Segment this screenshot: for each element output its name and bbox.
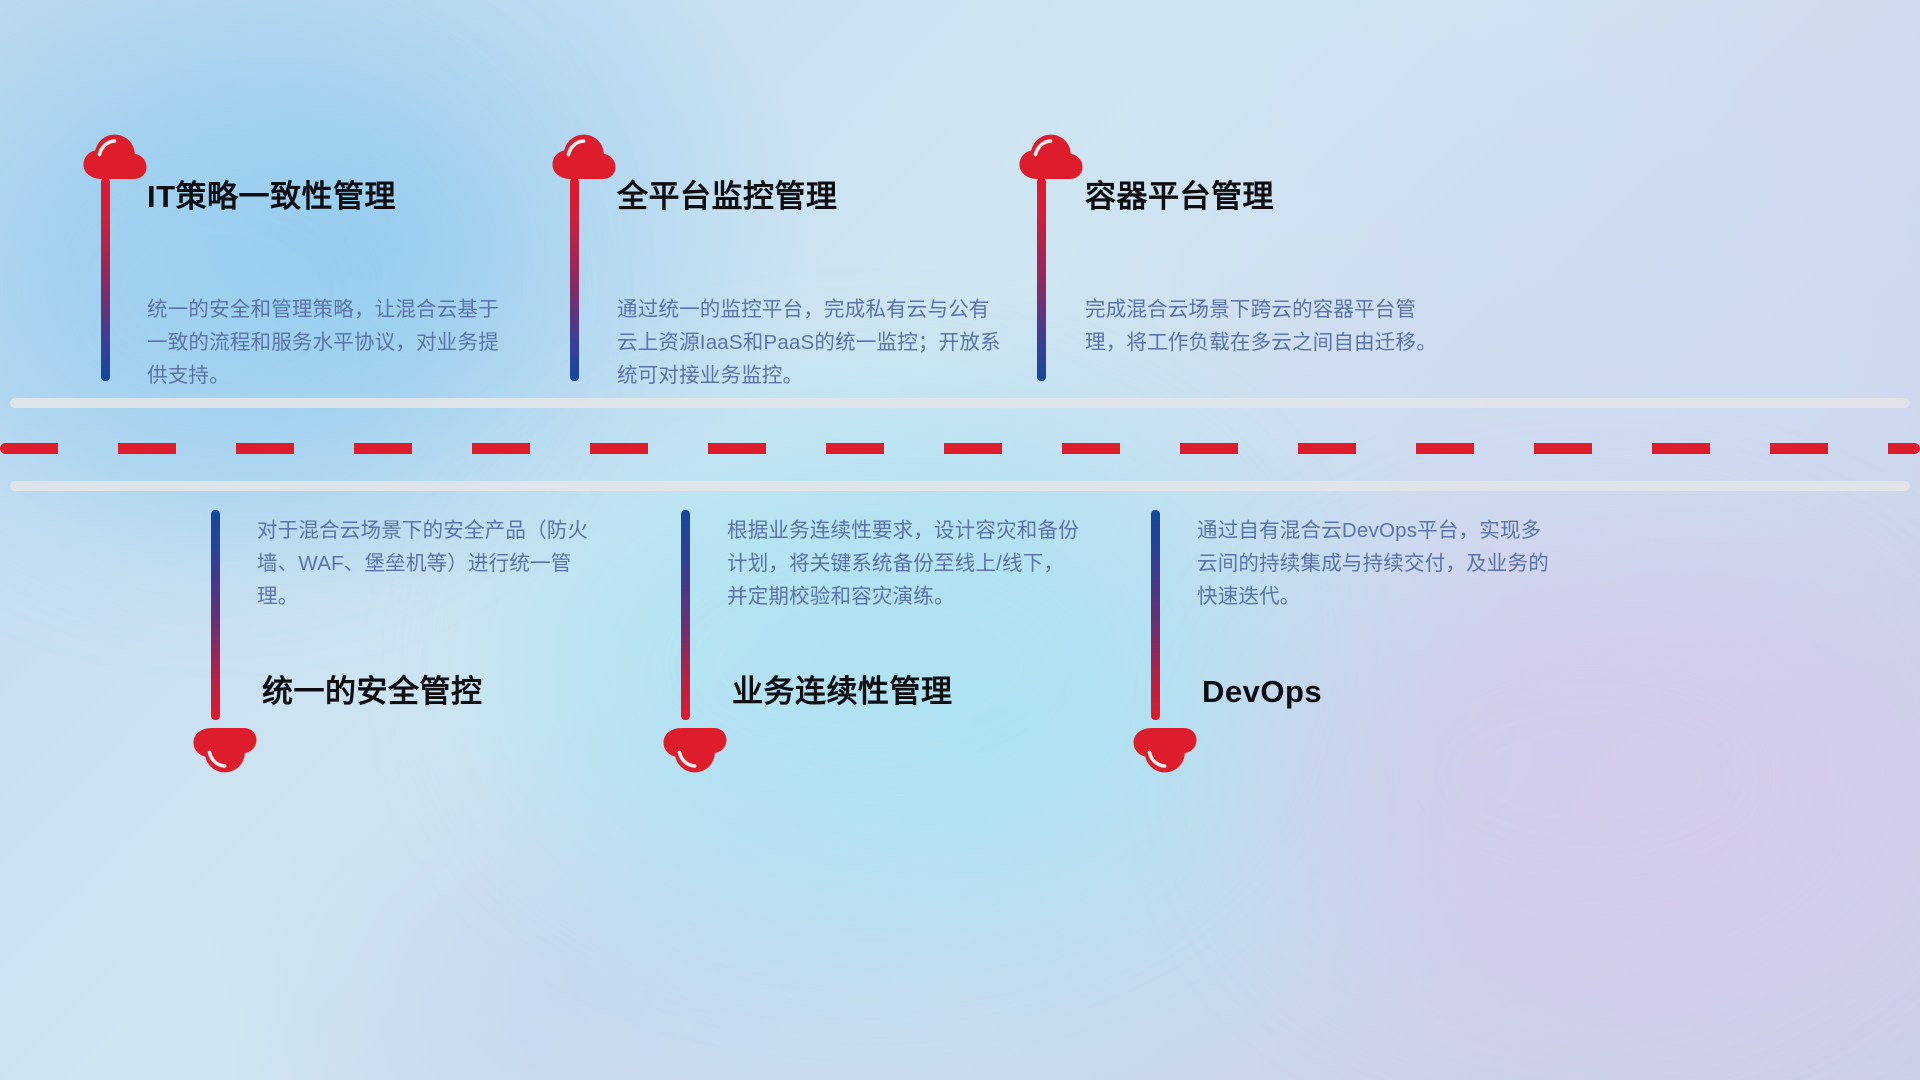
infographic-canvas: IT策略一致性管理 统一的安全和管理策略，让混合云基于一致的流程和服务水平协议，…: [0, 0, 1920, 1080]
dashed-line-segments: [0, 443, 1920, 454]
card-title: IT策略一致性管理: [147, 178, 396, 215]
divider-rule-bottom: [10, 481, 1910, 491]
stem-connector: [570, 178, 579, 381]
background-blob-violet: [1280, 560, 1900, 990]
card-body: 通过统一的监控平台，完成私有云与公有云上资源IaaS和PaaS的统一监控；开放系…: [617, 293, 1005, 393]
stem-connector: [101, 178, 110, 381]
card-title: 统一的安全管控: [262, 673, 483, 710]
card-title: 全平台监控管理: [617, 178, 838, 215]
cloud-icon: [1132, 727, 1198, 775]
stem-connector: [681, 510, 690, 720]
card-title: 业务连续性管理: [732, 673, 953, 710]
card-body: 统一的安全和管理策略，让混合云基于一致的流程和服务水平协议，对业务提供支持。: [147, 293, 503, 393]
card-body: 完成混合云场景下跨云的容器平台管理，将工作负载在多云之间自由迁移。: [1085, 293, 1457, 359]
cloud-icon: [82, 132, 148, 180]
card-body: 对于混合云场景下的安全产品（防火墙、WAF、堡垒机等）进行统一管理。: [257, 514, 609, 614]
stem-connector: [211, 510, 220, 720]
stem-connector: [1151, 510, 1160, 720]
card-body: 通过自有混合云DevOps平台，实现多云间的持续集成与持续交付，及业务的快速迭代…: [1197, 514, 1549, 614]
divider-dashed-line: [0, 443, 1920, 454]
cloud-icon: [1018, 132, 1084, 180]
stem-connector: [1037, 178, 1046, 381]
card-title: 容器平台管理: [1085, 178, 1274, 215]
card-body: 根据业务连续性要求，设计容灾和备份计划，将关键系统备份至线上/线下，并定期校验和…: [727, 514, 1079, 614]
divider-rule-top: [10, 398, 1910, 408]
background-blob-teal: [520, 430, 1220, 900]
cloud-icon: [662, 727, 728, 775]
cloud-icon: [551, 132, 617, 180]
cloud-icon: [192, 727, 258, 775]
card-title: DevOps: [1202, 673, 1322, 710]
